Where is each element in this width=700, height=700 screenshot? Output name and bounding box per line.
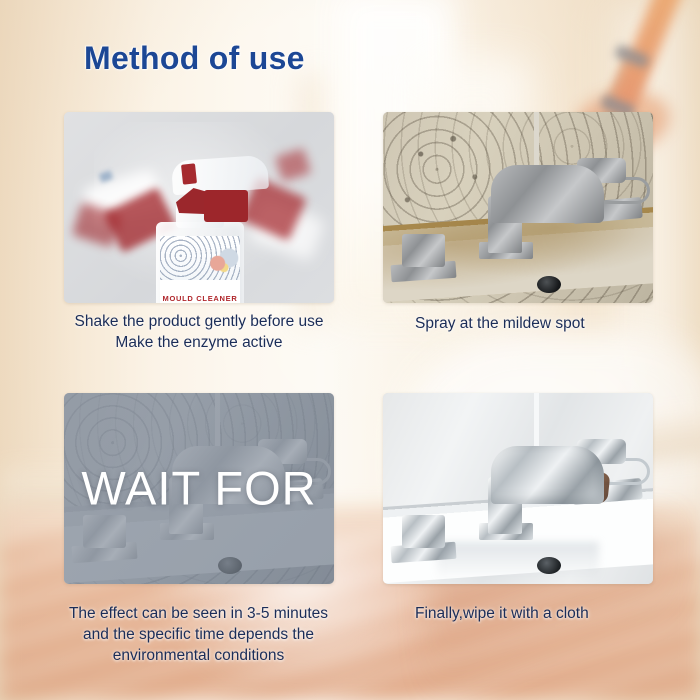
- product-label: MOULD CLEANER: [160, 236, 240, 303]
- step-3-image: WAIT FOR: [64, 393, 334, 584]
- counter-reflection: [437, 542, 599, 580]
- product-label-artwork: [160, 236, 240, 280]
- step-4-caption: Finally,wipe it with a cloth: [415, 603, 665, 624]
- step-4-image: [383, 393, 653, 584]
- wait-for-overlay-text: WAIT FOR: [64, 460, 334, 515]
- caption-line: Finally,wipe it with a cloth: [415, 603, 665, 624]
- product-label-text: MOULD CLEANER: [160, 294, 240, 303]
- page-title: Method of use: [84, 40, 305, 77]
- caption-line: The effect can be seen in 3-5 minutes: [36, 603, 361, 624]
- faucet-knob-left: [402, 234, 445, 266]
- step-3-caption: The effect can be seen in 3-5 minutes an…: [36, 603, 361, 666]
- faucet-spout: [491, 165, 604, 222]
- step-2-image: [383, 112, 653, 303]
- caption-line: Make the enzyme active: [44, 332, 354, 353]
- step-2-caption: Spray at the mildew spot: [415, 313, 665, 334]
- caption-line: and the specific time depends the: [36, 624, 361, 645]
- spray-trigger-block-red: [204, 190, 248, 222]
- caption-line: Spray at the mildew spot: [415, 313, 665, 334]
- step-1-image: MOULD CLEANER: [64, 112, 334, 303]
- caption-line: Shake the product gently before use: [44, 311, 354, 332]
- caption-line: environmental conditions: [36, 645, 361, 666]
- step-1-caption: Shake the product gently before use Make…: [44, 311, 354, 353]
- faucet-spout: [491, 446, 604, 503]
- spray-nozzle-red: [181, 163, 197, 184]
